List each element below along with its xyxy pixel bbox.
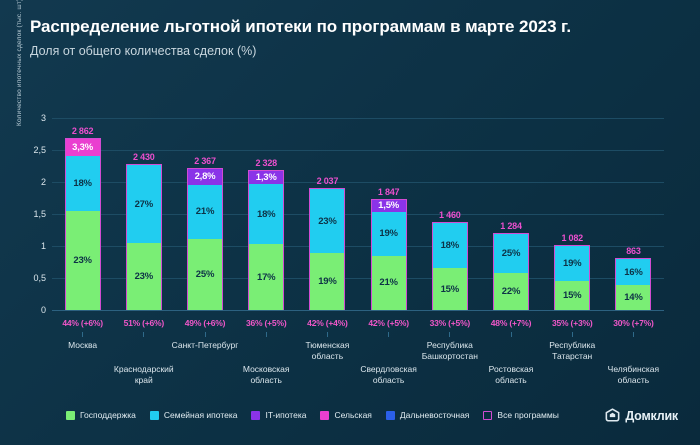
chart-legend: ГосподдержкаСемейная ипотекаIT-ипотекаСе… xyxy=(66,410,559,420)
bar[interactable]: 1 08219%15% xyxy=(554,245,590,310)
legend-swatch xyxy=(66,411,75,420)
bar-segment-label: 25% xyxy=(502,248,520,259)
x-axis-tick xyxy=(480,332,541,337)
plot-area: Количество ипотечных сделок (тыс. шт) 00… xyxy=(52,118,680,310)
legend-label: Сельская xyxy=(334,410,371,420)
bar-segment[interactable]: 3,3% xyxy=(66,139,100,156)
x-axis-tick xyxy=(174,332,235,337)
legend-label: Господдержка xyxy=(80,410,136,420)
bar-slot: 2 03723%19% xyxy=(297,118,358,310)
x-axis-tick xyxy=(236,332,297,337)
bar-segment[interactable]: 18% xyxy=(249,184,283,245)
logo-text: Домклик xyxy=(625,409,678,423)
bar-segment[interactable]: 16% xyxy=(616,259,650,285)
bar-segment-label: 19% xyxy=(379,228,397,239)
legend-swatch xyxy=(483,411,492,420)
bar-total-label: 1 284 xyxy=(500,221,522,231)
bar-total-label: 2 328 xyxy=(255,158,277,168)
bar-segment[interactable]: 18% xyxy=(433,223,467,268)
bar-series: 2 8623,3%18%23%2 43027%23%2 3672,8%21%25… xyxy=(52,118,664,310)
bar[interactable]: 1 46018%15% xyxy=(432,222,468,310)
bar-slot: 2 43027%23% xyxy=(113,118,174,310)
bar-segment[interactable]: 1,5% xyxy=(372,200,406,212)
bar-segment[interactable]: 17% xyxy=(249,244,283,310)
bar-segment-label: 14% xyxy=(624,292,642,303)
x-axis-share-label: 35% (+3%) xyxy=(542,318,603,328)
x-axis-share-label: 33% (+5%) xyxy=(419,318,480,328)
legend-swatch xyxy=(251,411,260,420)
bar-segment-label: 16% xyxy=(624,267,642,278)
x-axis-tick xyxy=(297,332,358,337)
x-axis-category-label: РеспубликаТатарстан xyxy=(533,340,611,362)
x-axis-share-row: 44% (+6%)51% (+6%)49% (+6%)36% (+5%)42% … xyxy=(52,318,664,328)
bar-slot: 2 3672,8%21%25% xyxy=(174,118,235,310)
bar-segment[interactable]: 1,3% xyxy=(249,171,283,184)
legend-label: Семейная ипотека xyxy=(164,410,238,420)
y-axis-tick-label: 0,5 xyxy=(33,273,46,283)
bar-slot: 2 8623,3%18%23% xyxy=(52,118,113,310)
bar-segment[interactable]: 23% xyxy=(310,189,344,253)
bar-segment[interactable]: 21% xyxy=(372,256,406,311)
bar-segment[interactable]: 19% xyxy=(310,253,344,310)
y-axis-tick-label: 0 xyxy=(41,305,46,315)
chart-subtitle: Доля от общего количества сделок (%) xyxy=(30,43,670,59)
y-axis-tick-label: 1 xyxy=(41,241,46,251)
bar-segment-label: 17% xyxy=(257,272,275,283)
bar[interactable]: 86316%14% xyxy=(615,258,651,310)
bar-total-label: 2 862 xyxy=(72,126,94,136)
bar-segment-label: 18% xyxy=(441,240,459,251)
bar-segment[interactable]: 14% xyxy=(616,285,650,310)
x-axis-category-label: Санкт-Петербург xyxy=(166,340,244,351)
bar-segment-label: 21% xyxy=(196,206,214,217)
bar-segment[interactable]: 25% xyxy=(494,234,528,273)
bar-segment[interactable]: 21% xyxy=(188,185,222,239)
y-axis-tick-label: 1,5 xyxy=(33,209,46,219)
x-axis-category-label: РеспубликаБашкортостан xyxy=(411,340,489,362)
bar[interactable]: 2 3281,3%18%17% xyxy=(248,170,284,310)
bar-segment-label: 1,5% xyxy=(378,200,399,211)
y-axis-tick-label: 3 xyxy=(41,113,46,123)
bar-segment[interactable]: 2,8% xyxy=(188,169,222,185)
bar[interactable]: 1 28425%22% xyxy=(493,233,529,310)
x-axis-share-label: 49% (+6%) xyxy=(174,318,235,328)
x-axis-category-label: Челябинскаяобласть xyxy=(594,364,672,386)
legend-item[interactable]: Дальневосточная xyxy=(386,410,469,420)
bar-segment-label: 27% xyxy=(135,199,153,210)
x-axis-category-label: Свердловскаяобласть xyxy=(350,364,428,386)
bar-segment-label: 23% xyxy=(318,216,336,227)
legend-label: Дальневосточная xyxy=(400,410,469,420)
x-axis-category-label: Тюменскаяобласть xyxy=(288,340,366,362)
legend-item[interactable]: Сельская xyxy=(320,410,371,420)
bar-segment-label: 15% xyxy=(441,284,459,295)
bar-segment-label: 23% xyxy=(73,255,91,266)
bar-total-label: 2 367 xyxy=(194,156,216,166)
bar-segment[interactable]: 15% xyxy=(555,281,589,310)
x-axis-category-label: Московскаяобласть xyxy=(227,364,305,386)
x-axis-share-label: 42% (+5%) xyxy=(358,318,419,328)
x-axis-tick xyxy=(113,332,174,337)
chart-header: Распределение льготной ипотеки по програ… xyxy=(30,16,670,59)
bar-segment-label: 3,3% xyxy=(72,142,93,153)
bar-segment[interactable]: 27% xyxy=(127,165,161,243)
y-axis-tick-label: 2 xyxy=(41,177,46,187)
bar-segment-label: 25% xyxy=(196,269,214,280)
x-axis-category-label: Москва xyxy=(44,340,122,351)
bar-segment-label: 21% xyxy=(379,277,397,288)
bar-slot: 1 28425%22% xyxy=(480,118,541,310)
bar[interactable]: 1 8471,5%19%21% xyxy=(371,199,407,310)
x-axis-tick xyxy=(542,332,603,337)
bar-total-label: 863 xyxy=(626,246,640,256)
x-axis-share-label: 44% (+6%) xyxy=(52,318,113,328)
bar[interactable]: 2 8623,3%18%23% xyxy=(65,138,101,310)
bar[interactable]: 2 03723%19% xyxy=(309,188,345,310)
bar-segment[interactable]: 19% xyxy=(372,212,406,256)
x-axis-tick xyxy=(358,332,419,337)
bar-slot: 1 8471,5%19%21% xyxy=(358,118,419,310)
bar-slot: 1 46018%15% xyxy=(419,118,480,310)
y-axis-title: Количество ипотечных сделок (тыс. шт) xyxy=(16,0,23,126)
brand-logo: Домклик xyxy=(605,408,678,423)
y-axis-tick-label: 2,5 xyxy=(33,145,46,155)
x-axis-label-slot: Челябинскаяобласть xyxy=(603,338,664,390)
bar-segment-label: 22% xyxy=(502,286,520,297)
bar-total-label: 1 082 xyxy=(561,233,583,243)
chart-page: Распределение льготной ипотеки по програ… xyxy=(0,0,700,445)
bar-total-label: 2 430 xyxy=(133,152,155,162)
bar-segment[interactable]: 18% xyxy=(66,156,100,211)
x-axis-labels: МоскваКраснодарскийкрайСанкт-ПетербургМо… xyxy=(52,338,664,390)
bar-segment-label: 19% xyxy=(318,276,336,287)
bar-slot: 86316%14% xyxy=(603,118,664,310)
x-axis-tick xyxy=(419,332,480,337)
x-axis-tick xyxy=(603,332,664,337)
legend-item[interactable]: Семейная ипотека xyxy=(150,410,238,420)
x-axis-category-label: Краснодарскийкрай xyxy=(105,364,183,386)
x-axis-category-label: Ростовскаяобласть xyxy=(472,364,550,386)
bar-segment-label: 2,8% xyxy=(195,171,216,182)
x-axis-share-label: 30% (+7%) xyxy=(603,318,664,328)
bar-total-label: 2 037 xyxy=(317,176,339,186)
bar-total-label: 1 847 xyxy=(378,187,400,197)
bar-segment-label: 18% xyxy=(73,178,91,189)
x-axis-share-label: 51% (+6%) xyxy=(113,318,174,328)
legend-swatch xyxy=(386,411,395,420)
x-axis-share-label: 42% (+4%) xyxy=(297,318,358,328)
bar-segment-label: 23% xyxy=(135,271,153,282)
bar-segment[interactable]: 25% xyxy=(188,239,222,311)
bar-segment[interactable]: 19% xyxy=(555,246,589,281)
bar-segment[interactable]: 22% xyxy=(494,273,528,311)
bar-segment-label: 18% xyxy=(257,209,275,220)
x-axis-tick xyxy=(52,332,113,337)
bar-total-label: 1 460 xyxy=(439,210,461,220)
bar-segment-label: 15% xyxy=(563,290,581,301)
legend-label: Все программы xyxy=(497,410,558,420)
legend-label: IT-ипотека xyxy=(265,410,306,420)
bar-segment-label: 19% xyxy=(563,258,581,269)
bar-segment-label: 1,3% xyxy=(256,172,277,183)
x-axis-share-label: 48% (+7%) xyxy=(480,318,541,328)
x-axis-tick-marks xyxy=(52,332,664,337)
bar-slot: 2 3281,3%18%17% xyxy=(236,118,297,310)
gridline xyxy=(52,310,664,311)
legend-item[interactable]: IT-ипотека xyxy=(251,410,306,420)
x-axis-share-label: 36% (+5%) xyxy=(236,318,297,328)
bar-segment[interactable]: 23% xyxy=(66,211,100,310)
page-title: Распределение льготной ипотеки по програ… xyxy=(30,16,670,37)
legend-swatch xyxy=(320,411,329,420)
legend-item[interactable]: Господдержка xyxy=(66,410,136,420)
legend-swatch xyxy=(150,411,159,420)
bar[interactable]: 2 3672,8%21%25% xyxy=(187,168,223,310)
house-icon xyxy=(605,408,620,423)
legend-item[interactable]: Все программы xyxy=(483,410,558,420)
bar[interactable]: 2 43027%23% xyxy=(126,164,162,310)
bar-segment[interactable]: 15% xyxy=(433,268,467,310)
bar-slot: 1 08219%15% xyxy=(542,118,603,310)
bar-segment[interactable]: 23% xyxy=(127,243,161,310)
